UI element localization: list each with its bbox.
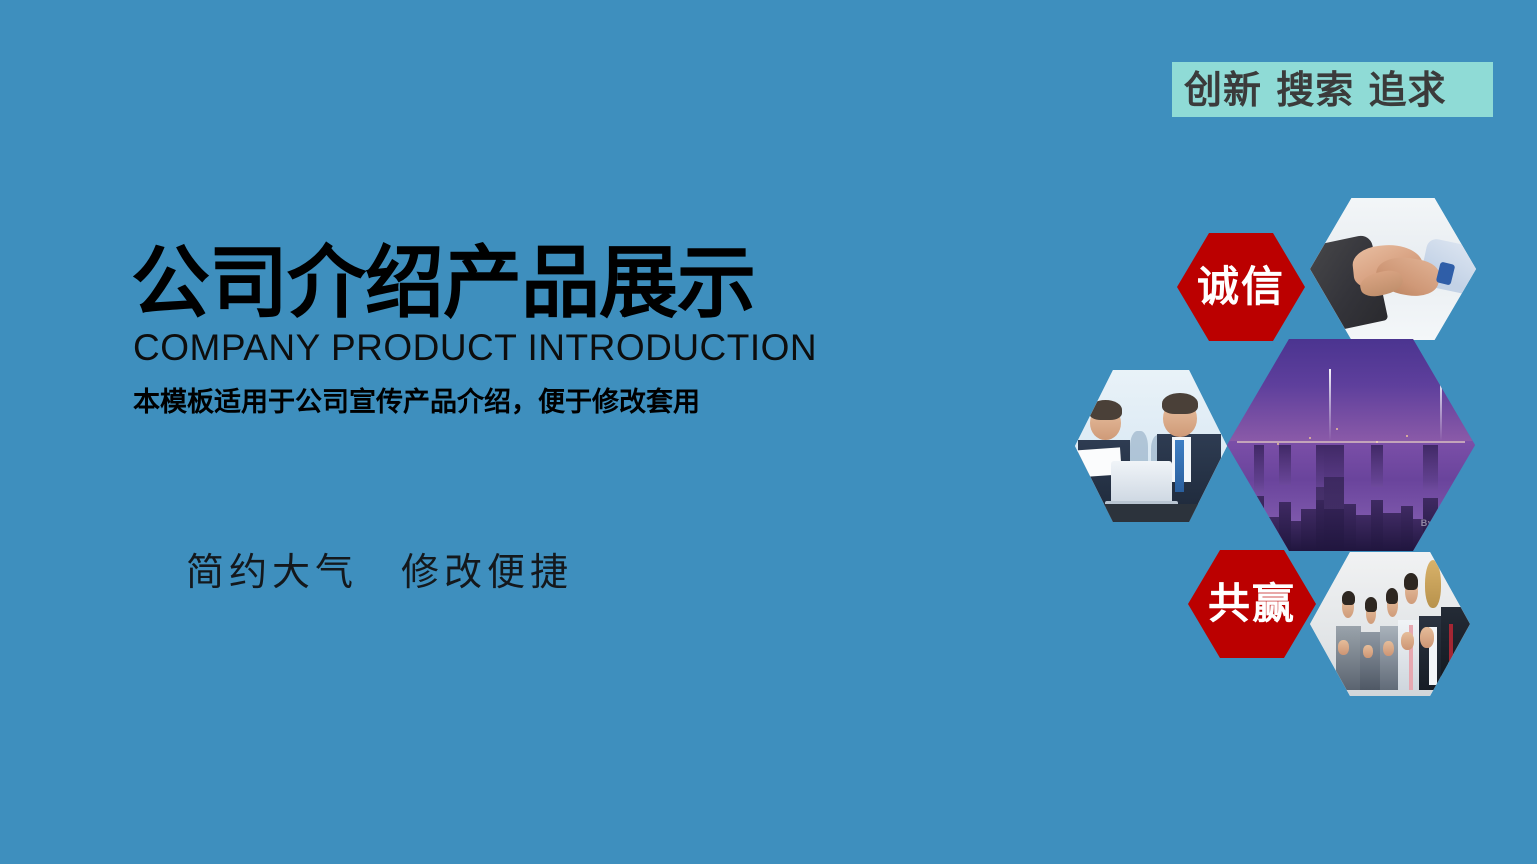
city-window-light [1406,435,1408,437]
city-waterline [1237,441,1465,443]
team-member [1336,587,1362,691]
team-member-hands [1338,640,1349,655]
meeting-person-right-tie [1175,440,1184,492]
banner-text: 创新 搜索 追求 [1184,71,1446,109]
bottom-tagline: 简约大气 修改便捷 [186,552,573,594]
team-member-hair [1404,573,1418,590]
team-member-hair [1425,560,1441,608]
city-photo-watermark: Byto [1421,518,1443,528]
city-reflection [1279,445,1291,485]
team-member-hands [1401,632,1414,650]
hexagon-winwin: 共赢 [1188,550,1316,658]
city-reflection [1324,445,1344,509]
city-building [1242,511,1254,551]
city-building [1401,506,1413,551]
team-member [1441,552,1470,690]
hexagon-cluster: 诚信 [1060,180,1520,720]
hexagon-city-photo: Byto [1227,339,1475,551]
hexagon-team-photo [1310,552,1470,696]
city-reflection [1371,445,1383,487]
city-building [1438,513,1450,551]
city-building [1371,500,1383,551]
city-spire-light [1329,369,1331,441]
meeting-person-right-hair [1162,393,1198,414]
city-building [1301,509,1316,551]
meeting-person-left-hair [1089,400,1122,420]
page-title: 公司介绍产品展示 [131,244,831,323]
city-reflection [1423,445,1438,490]
page-subtitle: COMPANY PRODUCT INTRODUCTION [133,329,831,366]
team-member-hair [1386,588,1398,604]
presentation-slide: 创新 搜索 追求 公司介绍产品展示 COMPANY PRODUCT INTROD… [0,0,1537,864]
city-building [1264,517,1279,551]
city-building [1254,496,1264,551]
city-spire-light [1440,377,1442,441]
hexagon-winwin-label: 共赢 [1188,583,1316,625]
team-member-body [1441,607,1470,691]
team-member-body [1336,626,1362,690]
city-building [1383,513,1400,551]
city-window-light [1309,437,1311,439]
top-tagline-banner: 创新 搜索 追求 [1172,62,1493,117]
city-building [1356,515,1371,551]
team-member-hands [1383,641,1394,656]
city-building [1344,504,1356,551]
city-building [1291,521,1301,551]
city-reflection [1316,445,1323,500]
city-reflection [1254,445,1264,492]
team-member-hair [1342,591,1355,606]
meeting-laptop-screen [1111,461,1172,504]
city-building [1279,502,1291,551]
team-member-head [1448,552,1461,579]
hexagon-integrity: 诚信 [1177,233,1305,341]
team-member-tie [1449,624,1454,682]
meeting-desk [1075,504,1227,522]
team-member-hair [1365,597,1377,612]
hexagon-meeting-photo [1075,370,1227,522]
title-block: 公司介绍产品展示 COMPANY PRODUCT INTRODUCTION 本模… [131,244,831,418]
team-member-hands [1363,645,1373,658]
hexagon-integrity-label: 诚信 [1177,266,1305,308]
team-member-hands [1420,627,1434,648]
hexagon-handshake-photo [1310,198,1476,340]
city-sky [1227,339,1475,441]
team-member-hair [1447,552,1462,565]
page-description: 本模板适用于公司宣传产品介绍，便于修改套用 [133,388,831,418]
